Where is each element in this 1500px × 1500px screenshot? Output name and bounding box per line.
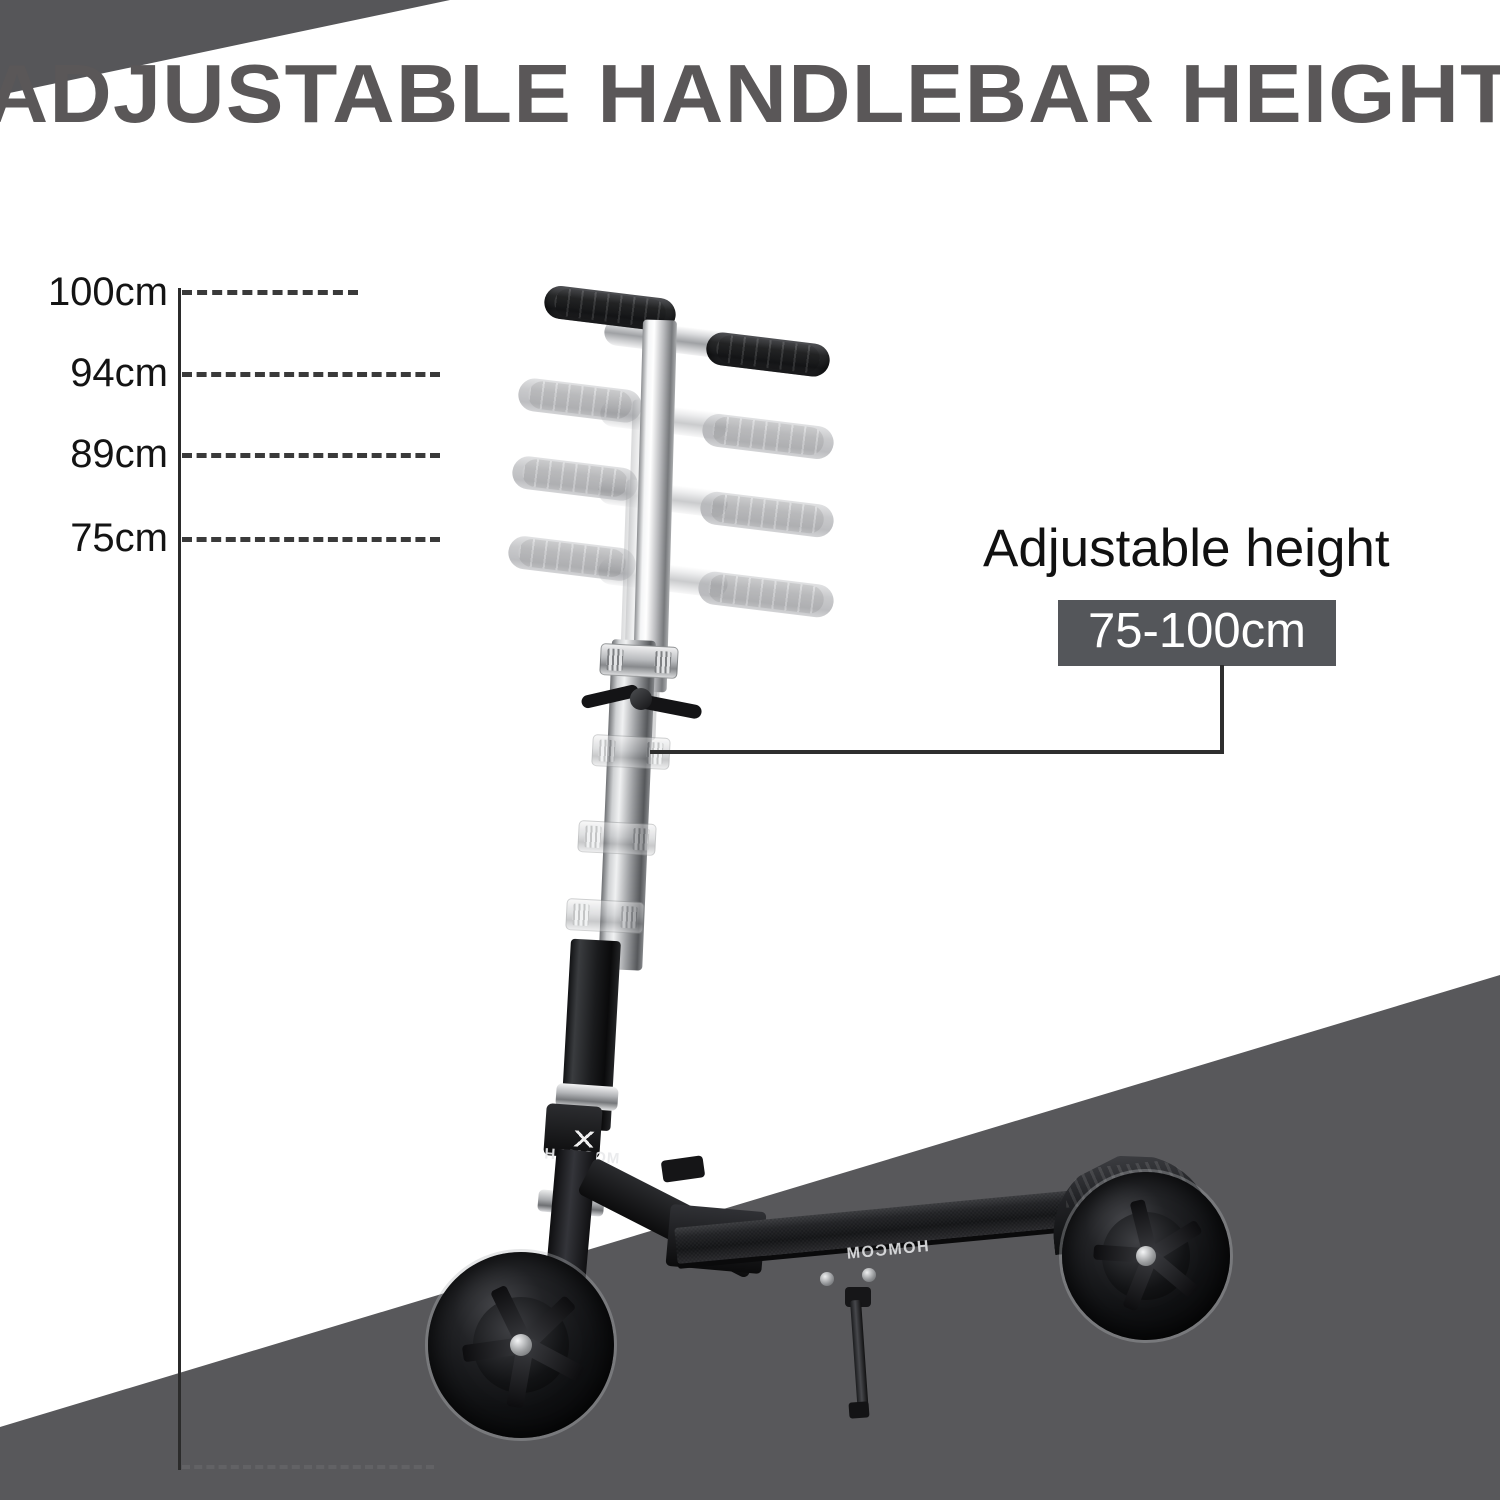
stem-upper — [633, 320, 677, 693]
kickstand-foot — [848, 1401, 869, 1418]
grip-right-ghost — [698, 490, 835, 539]
rear-axle-bolt — [1136, 1246, 1156, 1266]
chevron-icon — [570, 1130, 597, 1148]
scale-dash-89 — [182, 453, 440, 458]
grip-left-ghost — [510, 454, 639, 502]
scale-tick-label-89: 89cm — [0, 434, 168, 474]
status-badge: 75-100cm — [1058, 600, 1336, 666]
stem-clamp-4-ghost — [565, 898, 645, 934]
grip-right-ghost — [696, 570, 835, 619]
front-wheel — [428, 1252, 614, 1438]
callout-leader-horizontal — [650, 750, 1224, 754]
scale-tick-label-100: 100cm — [0, 272, 168, 312]
callout-leader-vertical — [1220, 665, 1224, 753]
grip-left-ghost — [506, 534, 637, 582]
grip-right-ghost — [700, 412, 835, 461]
stem-clamp-1 — [599, 643, 679, 679]
scale-tick-label-75: 75cm — [0, 518, 168, 558]
scale-dash-75 — [182, 537, 440, 542]
kickstand — [850, 1300, 869, 1415]
rear-wheel — [1062, 1172, 1230, 1340]
scale-dash-94 — [182, 372, 440, 377]
grip-left-ghost — [516, 377, 643, 425]
scale-axis-line — [178, 288, 181, 1470]
callout-title: Adjustable height — [983, 522, 1390, 575]
folding-latch — [661, 1155, 706, 1183]
lever-pivot — [630, 688, 652, 710]
deck-bolt-1 — [820, 1272, 834, 1286]
scale-dash-baseline — [182, 1465, 434, 1469]
brand-deck-text: HOMCOM — [845, 1238, 930, 1264]
status-badge-text: 75-100cm — [1088, 607, 1306, 656]
infographic-canvas: ADJUSTABLE HANDLEBAR HEIGHT — [0, 0, 1500, 1500]
stem-clamp-3-ghost — [577, 820, 657, 856]
deck-bolt-2 — [862, 1268, 876, 1282]
grip-right — [704, 331, 831, 379]
scale-tick-label-94: 94cm — [0, 353, 168, 393]
scale-dash-100 — [182, 290, 358, 295]
